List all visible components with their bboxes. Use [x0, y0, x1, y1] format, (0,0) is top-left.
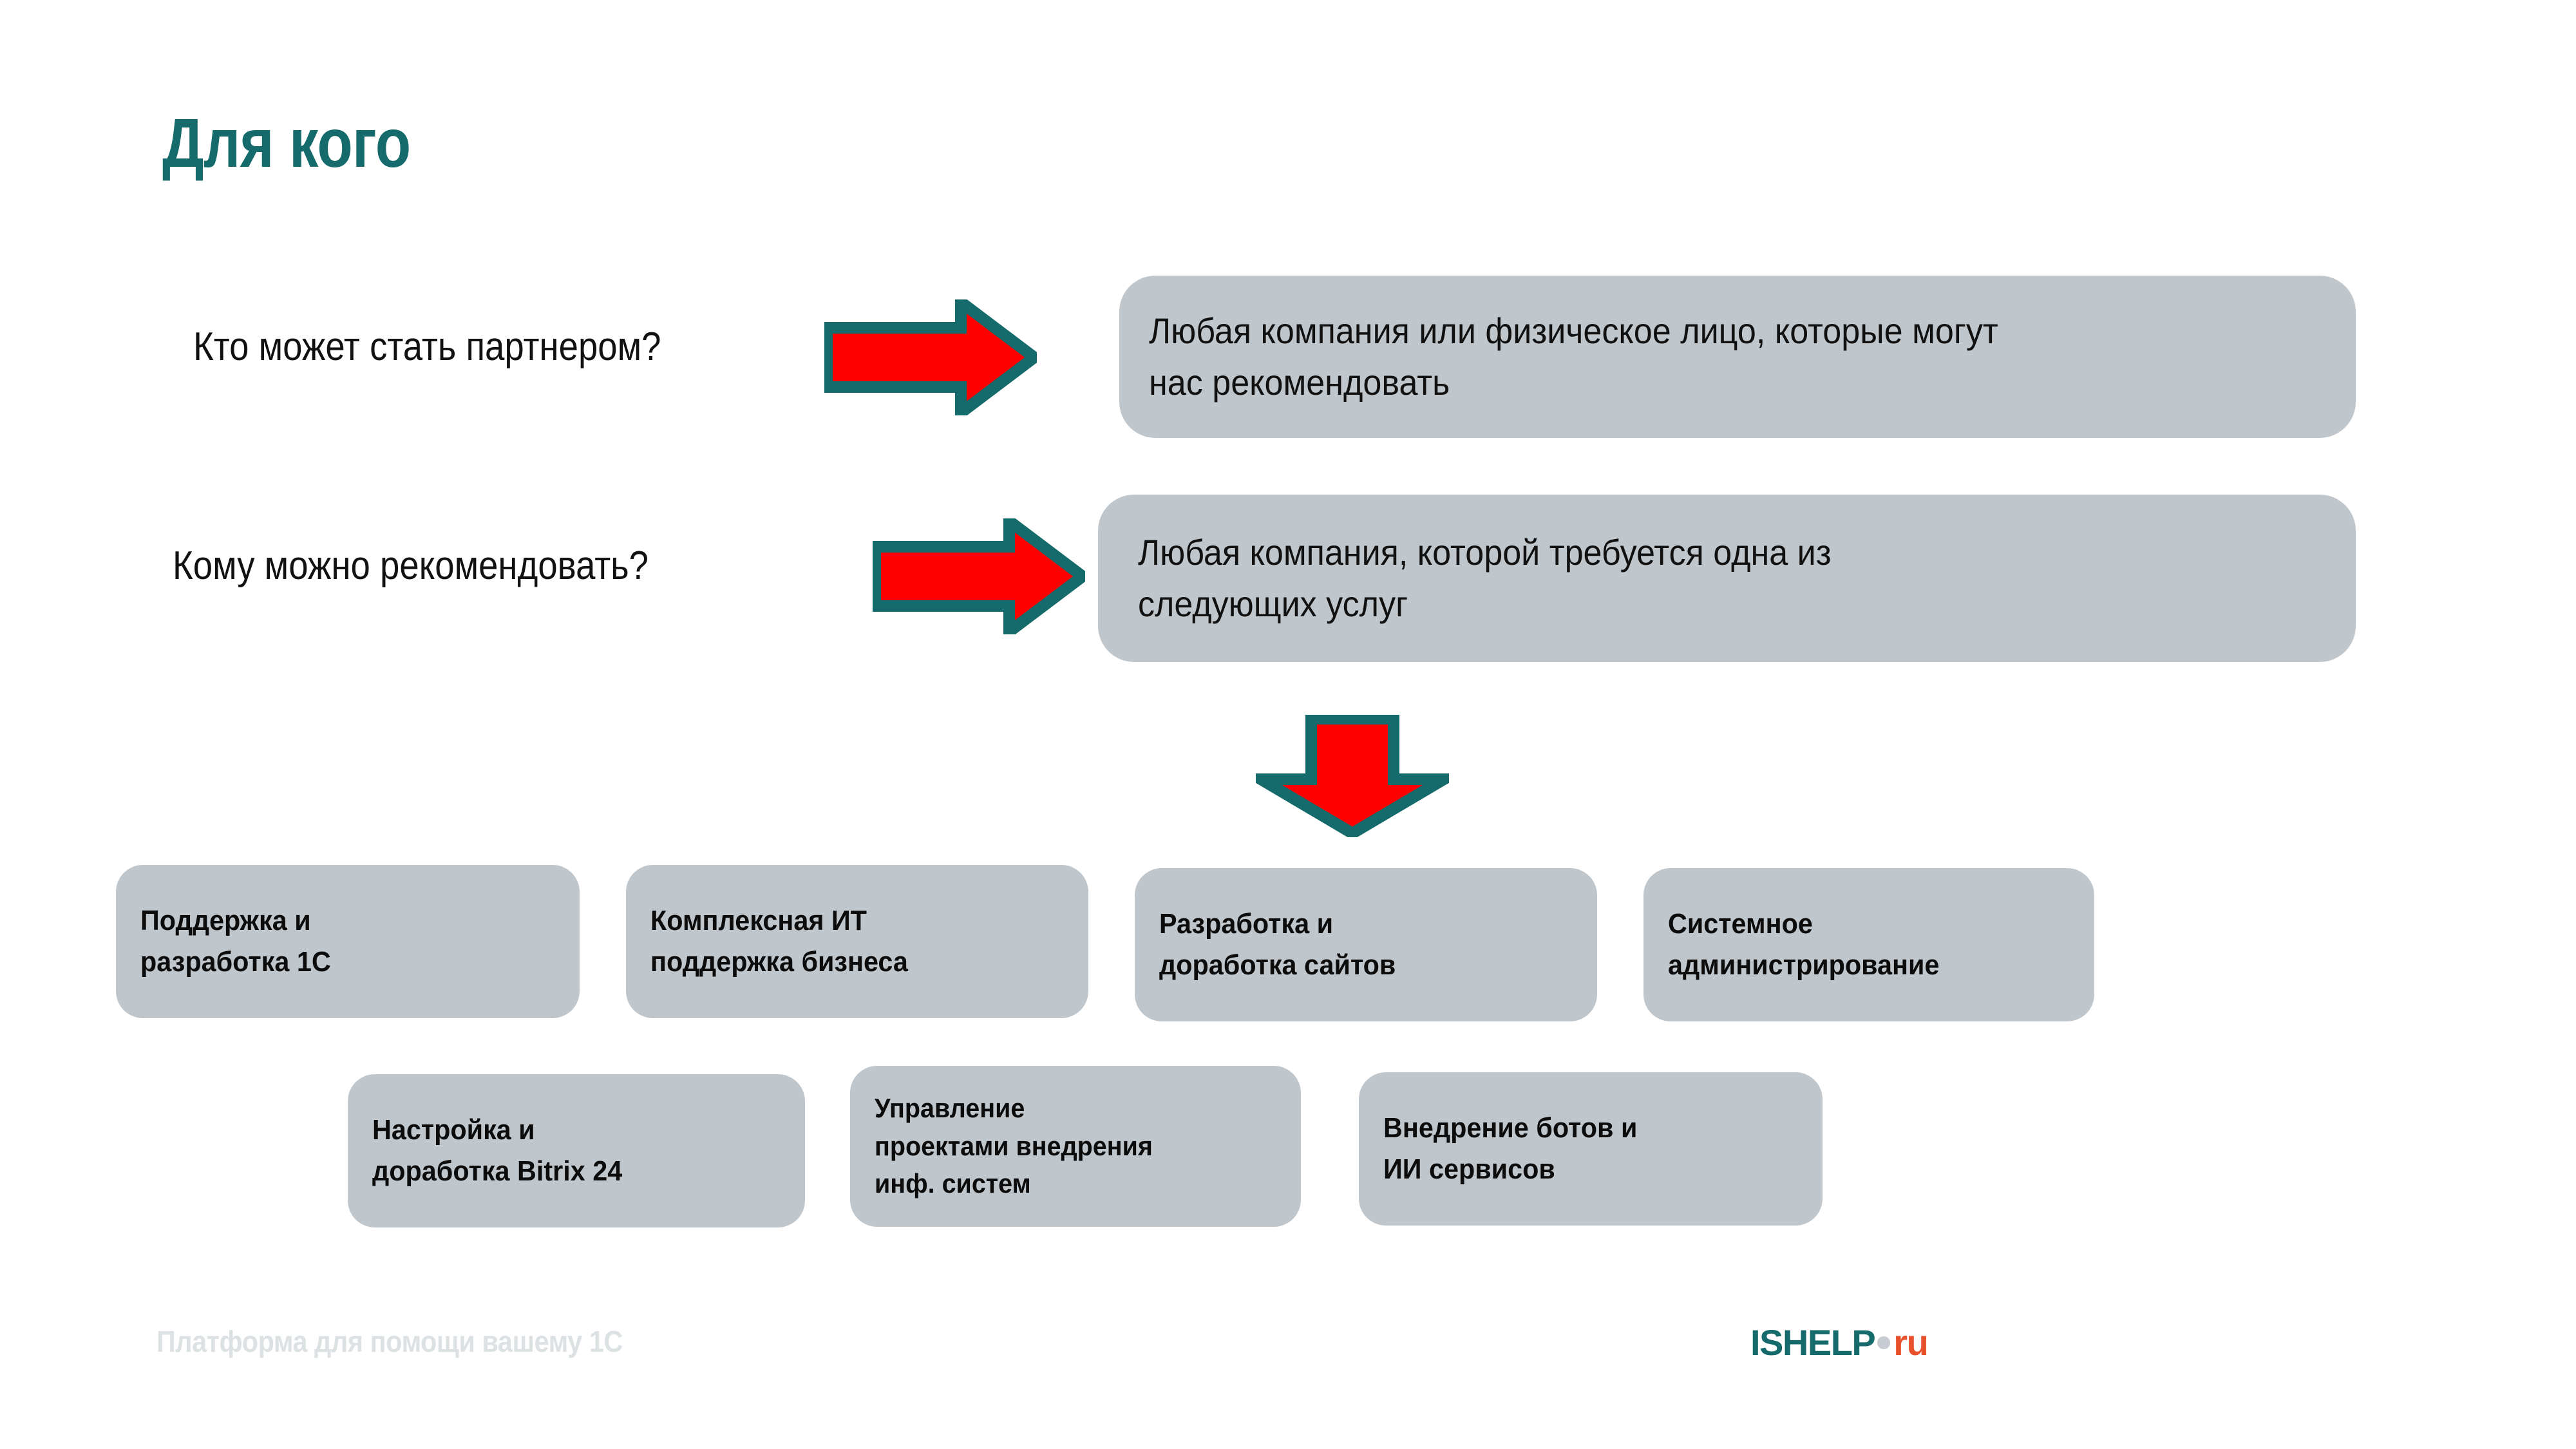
service-line-2: доработка Bitrix 24 [372, 1155, 622, 1187]
service-box[interactable]: Поддержка и разработка 1С [116, 865, 580, 1018]
arrow-down-icon [1256, 715, 1449, 837]
service-box[interactable]: Разработка и доработка сайтов [1135, 868, 1597, 1021]
arrow-right-icon [873, 518, 1085, 634]
answer-line-1: Любая компания, которой требуется одна и… [1138, 532, 1832, 573]
answer-line-2: нас рекомендовать [1149, 362, 1450, 402]
logo-help-text: HELP [1783, 1321, 1875, 1363]
service-line-2: поддержка бизнеса [650, 946, 908, 978]
logo-is-text: IS [1750, 1321, 1783, 1363]
arrow-right-icon [824, 299, 1037, 415]
slide-root: Для кого Кто может стать партнером? Люба… [0, 0, 2576, 1449]
answer-callout-2: Любая компания, которой требуется одна и… [1098, 495, 2356, 662]
service-line-1: Поддержка и [140, 905, 311, 936]
service-line-2: ИИ сервисов [1383, 1153, 1555, 1185]
footer-tagline: Платформа для помощи вашему 1С [156, 1324, 623, 1359]
service-line-1: Разработка и [1159, 908, 1333, 940]
service-box[interactable]: Системное администрирование [1643, 868, 2094, 1021]
service-line-3: инф. систем [875, 1168, 1031, 1198]
ishelp-logo[interactable]: ISHELPru [1750, 1321, 1927, 1363]
service-line-1: Управление [875, 1093, 1025, 1123]
answer-line-1: Любая компания или физическое лицо, кото… [1149, 310, 1998, 351]
logo-ru-text: ru [1893, 1321, 1927, 1363]
logo-dot-icon [1877, 1336, 1890, 1349]
service-line-1: Настройка и [372, 1114, 535, 1146]
service-line-1: Внедрение ботов и [1383, 1112, 1637, 1144]
question-label-1: Кто может стать партнером? [193, 325, 661, 369]
service-line-1: Системное [1668, 908, 1813, 940]
answer-line-2: следующих услуг [1138, 583, 1408, 624]
answer-callout-1: Любая компания или физическое лицо, кото… [1119, 276, 2356, 438]
service-box[interactable]: Настройка и доработка Bitrix 24 [348, 1074, 805, 1227]
service-box[interactable]: Внедрение ботов и ИИ сервисов [1359, 1072, 1823, 1226]
service-box[interactable]: Управление проектами внедрения инф. сист… [850, 1066, 1301, 1227]
service-line-2: разработка 1С [140, 946, 331, 978]
page-title: Для кого [162, 108, 410, 178]
service-line-2: проектами внедрения [875, 1131, 1153, 1161]
service-box[interactable]: Комплексная ИТ поддержка бизнеса [626, 865, 1088, 1018]
question-label-2: Кому можно рекомендовать? [173, 544, 649, 588]
service-line-1: Комплексная ИТ [650, 905, 867, 936]
service-line-2: доработка сайтов [1159, 949, 1396, 981]
service-line-2: администрирование [1668, 949, 1939, 981]
